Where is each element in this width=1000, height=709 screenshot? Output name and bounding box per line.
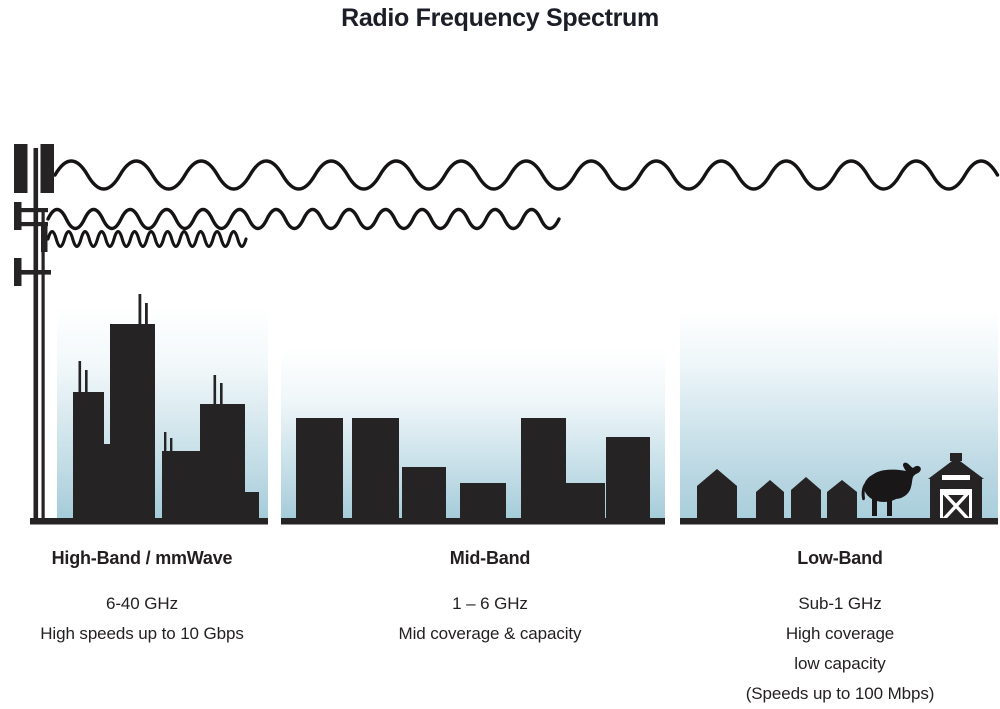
long-wavelength-icon: [55, 161, 998, 189]
caption-line-high-speed: High speeds up to 10 Gbps: [0, 619, 284, 649]
caption-line-low-frequency: Sub-1 GHz: [680, 589, 1000, 619]
ground-line: [30, 518, 998, 525]
barn-vent: [942, 475, 970, 480]
caption-title-mid-band: Mid-Band: [345, 548, 635, 569]
short-wavelength-icon: [48, 232, 246, 247]
caption-mid-band: Mid-Band 1 – 6 GHz Mid coverage & capaci…: [345, 548, 635, 649]
caption-high-band: High-Band / mmWave 6-40 GHz High speeds …: [0, 548, 284, 649]
caption-line-low-speed: (Speeds up to 100 Mbps): [680, 679, 1000, 709]
caption-title-high-band: High-Band / mmWave: [0, 548, 284, 569]
wave-group: [48, 161, 998, 247]
medium-wavelength-icon: [48, 210, 559, 229]
caption-line-high-frequency: 6-40 GHz: [0, 589, 284, 619]
caption-line-mid-frequency: 1 – 6 GHz: [345, 589, 635, 619]
caption-title-low-band: Low-Band: [680, 548, 1000, 569]
caption-line-low-coverage: High coverage: [680, 619, 1000, 649]
caption-line-low-capacity: low capacity: [680, 649, 1000, 679]
caption-low-band: Low-Band Sub-1 GHz High coverage low cap…: [680, 548, 1000, 709]
caption-line-mid-coverage: Mid coverage & capacity: [345, 619, 635, 649]
cell-tower-icon: [14, 144, 54, 520]
